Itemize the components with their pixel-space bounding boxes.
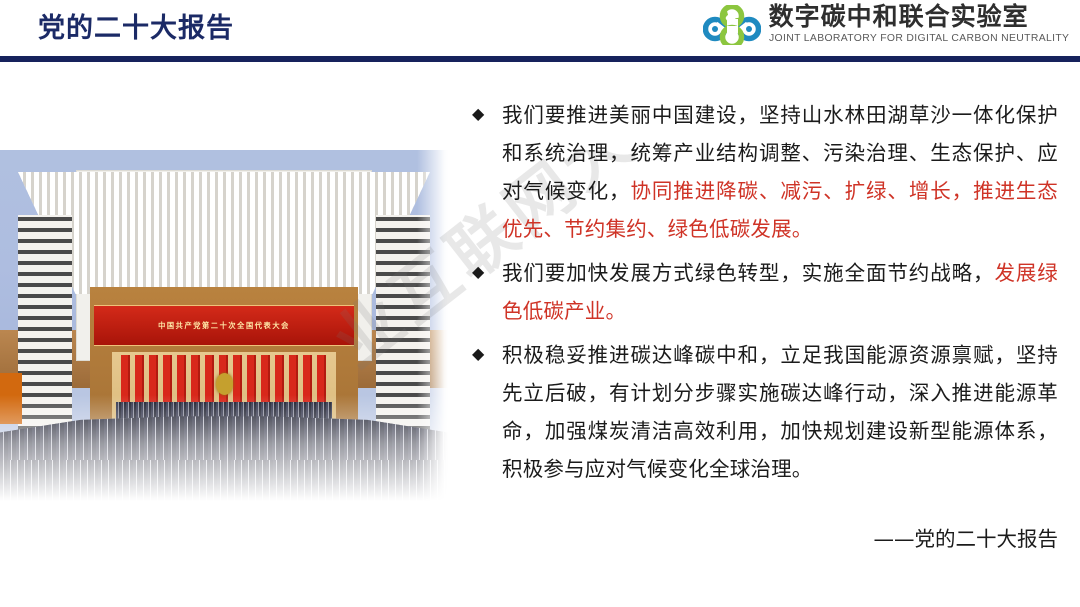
bullet-item: ◆ 我们要加快发展方式绿色转型，实施全面节约战略，发展绿色低碳产业。 (472, 254, 1058, 330)
bullet-item: ◆ 我们要推进美丽中国建设，坚持山水林田湖草沙一体化保护和系统治理，统筹产业结构… (472, 96, 1058, 248)
bullet-text: 我们要加快发展方式绿色转型，实施全面节约战略，发展绿色低碳产业。 (502, 254, 1058, 330)
lab-name-cn: 数字碳中和联合实验室 (769, 4, 1072, 31)
bullet-item: ◆ 积极稳妥推进碳达峰碳中和，立足我国能源资源禀赋，坚持先立后破，有计划分步骤实… (472, 336, 1058, 488)
lab-name-en: JOINT LABORATORY FOR DIGITAL CARBON NEUT… (769, 31, 1069, 45)
bullet-list: ◆ 我们要推进美丽中国建设，坚持山水林田湖草沙一体化保护和系统治理，统筹产业结构… (472, 96, 1058, 494)
bullet-text: 积极稳妥推进碳达峰碳中和，立足我国能源资源禀赋，坚持先立后破，有计划分步骤实施碳… (502, 336, 1058, 488)
lab-logo: 数字碳中和联合实验室 JOINT LABORATORY FOR DIGITAL … (703, 4, 1072, 45)
header-divider (0, 56, 1080, 62)
bullet-marker-icon: ◆ (472, 96, 502, 134)
lab-logo-text: 数字碳中和联合实验室 JOINT LABORATORY FOR DIGITAL … (769, 4, 1072, 45)
digital-carbon-neutrality-logo-icon (703, 5, 761, 45)
bullet-marker-icon: ◆ (472, 336, 502, 374)
bullet-text: 我们要推进美丽中国建设，坚持山水林田湖草沙一体化保护和系统治理，统筹产业结构调整… (502, 96, 1058, 248)
slide: 党的二十大报告 (0, 0, 1080, 607)
bullet-3-segment-plain: 积极稳妥推进碳达峰碳中和，立足我国能源资源禀赋，坚持先立后破，有计划分步骤实施碳… (502, 343, 1058, 481)
bullet-marker-icon: ◆ (472, 254, 502, 292)
photo-right-fade (417, 150, 448, 510)
page-title: 党的二十大报告 (38, 8, 234, 48)
photo-bottom-fade (0, 395, 448, 510)
source-attribution: ——党的二十大报告 (472, 524, 1058, 554)
congress-photo: 中国共产党第二十次全国代表大会 (0, 150, 448, 510)
congress-banner-text: 中国共产党第二十次全国代表大会 (158, 321, 290, 331)
slide-header: 党的二十大报告 (0, 0, 1080, 62)
bullet-2-segment-plain: 我们要加快发展方式绿色转型，实施全面节约战略， (502, 261, 994, 285)
congress-banner: 中国共产党第二十次全国代表大会 (94, 305, 354, 347)
